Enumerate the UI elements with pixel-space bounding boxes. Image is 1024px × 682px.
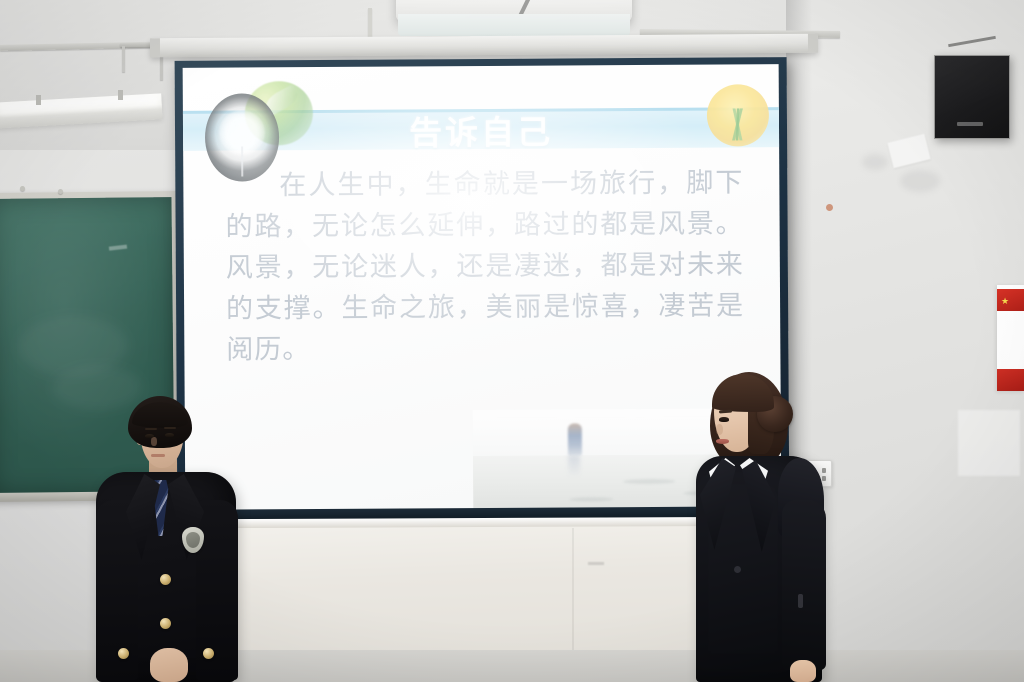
chalk-smudge-2 bbox=[52, 365, 142, 410]
conduit-drop-wire-2 bbox=[122, 46, 125, 72]
blazer-button-2 bbox=[160, 618, 171, 629]
teacher-eye bbox=[719, 417, 729, 422]
slide-surface: 告诉自己 在人生中，生命就是一场旅行，脚下的路，无论怎么延伸，路过的都是风景。风… bbox=[183, 64, 782, 514]
crest-emblem bbox=[186, 532, 200, 548]
wall-paper-patch bbox=[958, 410, 1020, 476]
teacher-nose bbox=[716, 424, 723, 435]
poster-red-banner-2 bbox=[997, 369, 1024, 391]
student-eye-left bbox=[145, 434, 154, 438]
projection-screen: 告诉自己 在人生中，生命就是一场旅行，脚下的路，无论怎么延伸，路过的都是风景。风… bbox=[175, 57, 790, 524]
photo-walking-figure bbox=[568, 423, 582, 455]
wall-sticker-dot bbox=[826, 204, 833, 211]
sun-grass-circle-icon bbox=[707, 84, 769, 146]
blazer-button-1 bbox=[160, 574, 171, 585]
classroom-scene: 告诉自己 在人生中，生命就是一场旅行，脚下的路，无论怎么延伸，路过的都是风景。风… bbox=[0, 0, 1024, 682]
wall-scuff-2 bbox=[862, 154, 888, 170]
light-clip bbox=[36, 95, 41, 105]
cuff-button-right bbox=[203, 648, 214, 659]
cuff-button-left bbox=[118, 648, 129, 659]
photo-figure-reflection bbox=[568, 455, 580, 477]
student-nose bbox=[151, 437, 157, 446]
grass-sprout-icon bbox=[725, 108, 751, 140]
projector-body-base bbox=[398, 14, 630, 36]
chalk-mark bbox=[109, 245, 127, 251]
board-screw bbox=[20, 186, 25, 191]
wall-poster: ★ bbox=[997, 285, 1024, 391]
teacher-hand bbox=[790, 660, 816, 682]
speaker-logo bbox=[957, 122, 983, 126]
slide-body-text: 在人生中，生命就是一场旅行，脚下的路，无论怎么延伸，路过的都是风景。风景，无论迷… bbox=[225, 162, 744, 370]
star-icon: ★ bbox=[1001, 297, 1009, 306]
poster-red-banner: ★ bbox=[997, 289, 1024, 311]
board-screw-2 bbox=[58, 189, 63, 194]
teacher-lips bbox=[716, 439, 729, 444]
podium-scuff-mark bbox=[588, 562, 604, 565]
wall-speaker bbox=[934, 55, 1010, 139]
teacher-blazer-button bbox=[734, 566, 741, 573]
teacher-sleeve bbox=[782, 500, 826, 670]
teacher-blazer-pocket bbox=[798, 594, 803, 608]
light-clip-2 bbox=[118, 90, 123, 100]
student-eye-right bbox=[165, 433, 174, 437]
student-clasped-hands bbox=[150, 648, 188, 682]
wall-scuff bbox=[900, 170, 940, 192]
student-mouth bbox=[151, 454, 165, 457]
